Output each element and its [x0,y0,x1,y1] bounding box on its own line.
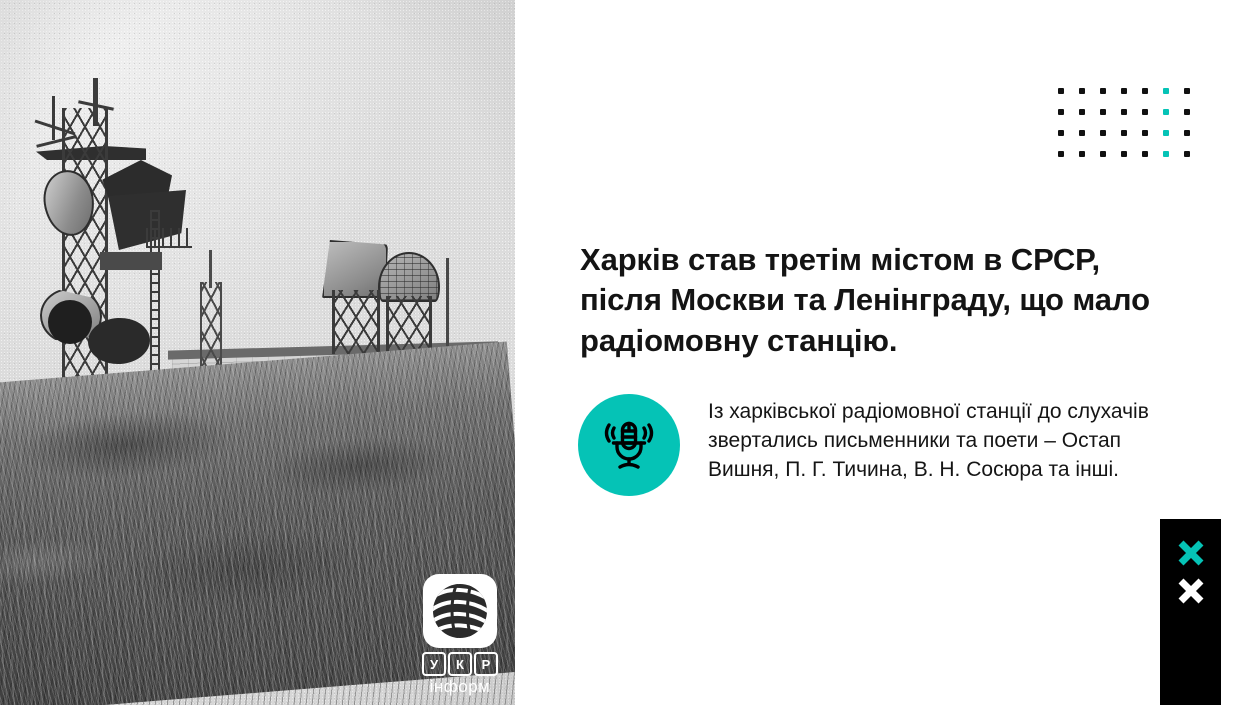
photo-horn-support-left [332,290,380,354]
ukrinform-letter-u: У [422,652,446,676]
fact-block: Із харківської радіомовної станції до сл… [578,394,1193,496]
grid-dot [1121,130,1127,136]
grid-dot-accent [1163,151,1169,157]
grid-dot [1184,130,1190,136]
grid-dot [1100,130,1106,136]
grid-dot [1079,130,1085,136]
grid-dot [1184,151,1190,157]
ukrinform-globe-icon [423,574,497,648]
grid-dot [1184,88,1190,94]
grid-dot-accent [1163,88,1169,94]
grid-dot [1079,151,1085,157]
x-mark-icon-teal [1175,537,1207,569]
photo-tower-platform [100,252,162,270]
grid-dot [1100,109,1106,115]
headline: Харків став третім містом в СРСР, після … [580,240,1180,361]
grid-dot [1121,88,1127,94]
corner-accent-box [1160,519,1221,705]
grid-dot [1121,109,1127,115]
infographic-card: У К Р інформ Харк [0,0,1253,705]
grid-dot [1142,130,1148,136]
decorative-dot-grid [1058,88,1205,172]
grid-dot [1142,151,1148,157]
ukrinform-logo: У К Р інформ [418,574,502,692]
grid-dot [1058,130,1064,136]
grid-dot [1079,88,1085,94]
photo-horn-support-right [386,296,432,354]
photo-tower-mast-secondary [52,96,55,140]
grid-dot [1058,88,1064,94]
grid-dot [1121,151,1127,157]
grid-dot [1058,151,1064,157]
grid-dot [1142,109,1148,115]
grid-dot-accent [1163,130,1169,136]
ukrinform-letter-r: Р [474,652,498,676]
ukrinform-letters: У К Р [418,652,502,676]
grid-dot [1184,109,1190,115]
grid-dot [1079,109,1085,115]
ukrinform-letter-k: К [448,652,472,676]
photo-thin-mast [446,258,449,354]
fact-text: Із харківської радіомовної станції до сл… [708,394,1193,485]
grid-dot [1100,88,1106,94]
grid-dot [1058,109,1064,115]
ukrinform-wordmark: інформ [418,677,502,697]
grid-dot-accent [1163,109,1169,115]
photo-parabolic-dish [48,300,92,344]
grid-dot [1100,151,1106,157]
x-mark-icon-white [1175,575,1207,607]
microphone-icon [578,394,680,496]
grid-dot [1142,88,1148,94]
